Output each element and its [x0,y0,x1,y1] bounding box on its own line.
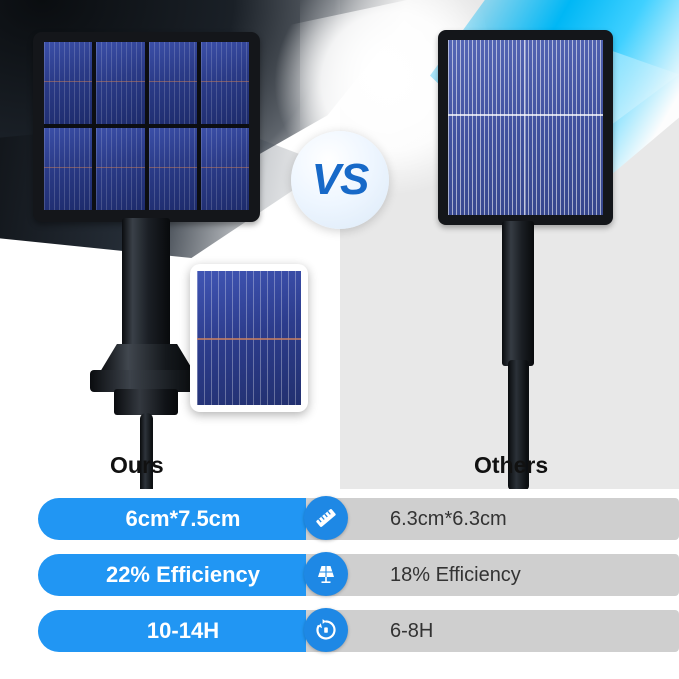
others-size-text: 6.3cm*6.3cm [390,508,507,531]
solar-cell [44,128,92,210]
product-comparison-image: VS Ours Others 6cm*7.5cm 6.3cm*6.3cm [0,0,679,679]
others-runtime-text: 6-8H [390,620,433,643]
ours-cell-closeup-image [197,271,301,405]
comparison-spec-table: 6cm*7.5cm 6.3cm*6.3cm 22% Efficiency [0,489,679,679]
solar-cell [149,42,197,124]
solar-cell [149,128,197,210]
solar-cell [96,42,144,124]
others-value-efficiency: 18% Efficiency [306,554,679,596]
others-label: Others [474,452,548,479]
ours-panel-glass [44,42,249,210]
ours-value-size: 6cm*7.5cm [38,498,328,540]
ruler-icon [304,496,348,540]
ours-pole-base-lower [114,389,178,415]
others-mounting-pole [502,221,534,366]
solar-panel-icon [304,552,348,596]
others-value-runtime: 6-8H [306,610,679,652]
solar-cell [44,42,92,124]
vs-badge: VS [291,131,389,229]
others-efficiency-text: 18% Efficiency [390,564,521,587]
ours-pole-collar [100,344,194,372]
solar-cell [201,42,249,124]
others-panel-glass [448,40,603,215]
ours-runtime-text: 10-14H [147,618,219,644]
ours-solar-cell-grid [44,42,249,210]
vs-badge-label: VS [312,155,369,205]
solar-cell [201,128,249,210]
others-panel-frame [438,30,613,225]
ours-efficiency-text: 22% Efficiency [106,562,260,588]
ours-size-text: 6cm*7.5cm [126,506,241,532]
ours-product-photo [18,32,278,452]
others-value-size: 6.3cm*6.3cm [306,498,679,540]
solar-cell [96,128,144,210]
ours-label: Ours [110,452,164,479]
ours-cell-closeup-callout [190,264,308,412]
ours-mounting-pole [122,218,170,348]
ours-value-runtime: 10-14H [38,610,328,652]
ours-value-efficiency: 22% Efficiency [38,554,328,596]
others-product-photo [420,30,640,460]
recharge-cycle-icon [304,608,348,652]
ours-panel-frame [33,32,260,222]
